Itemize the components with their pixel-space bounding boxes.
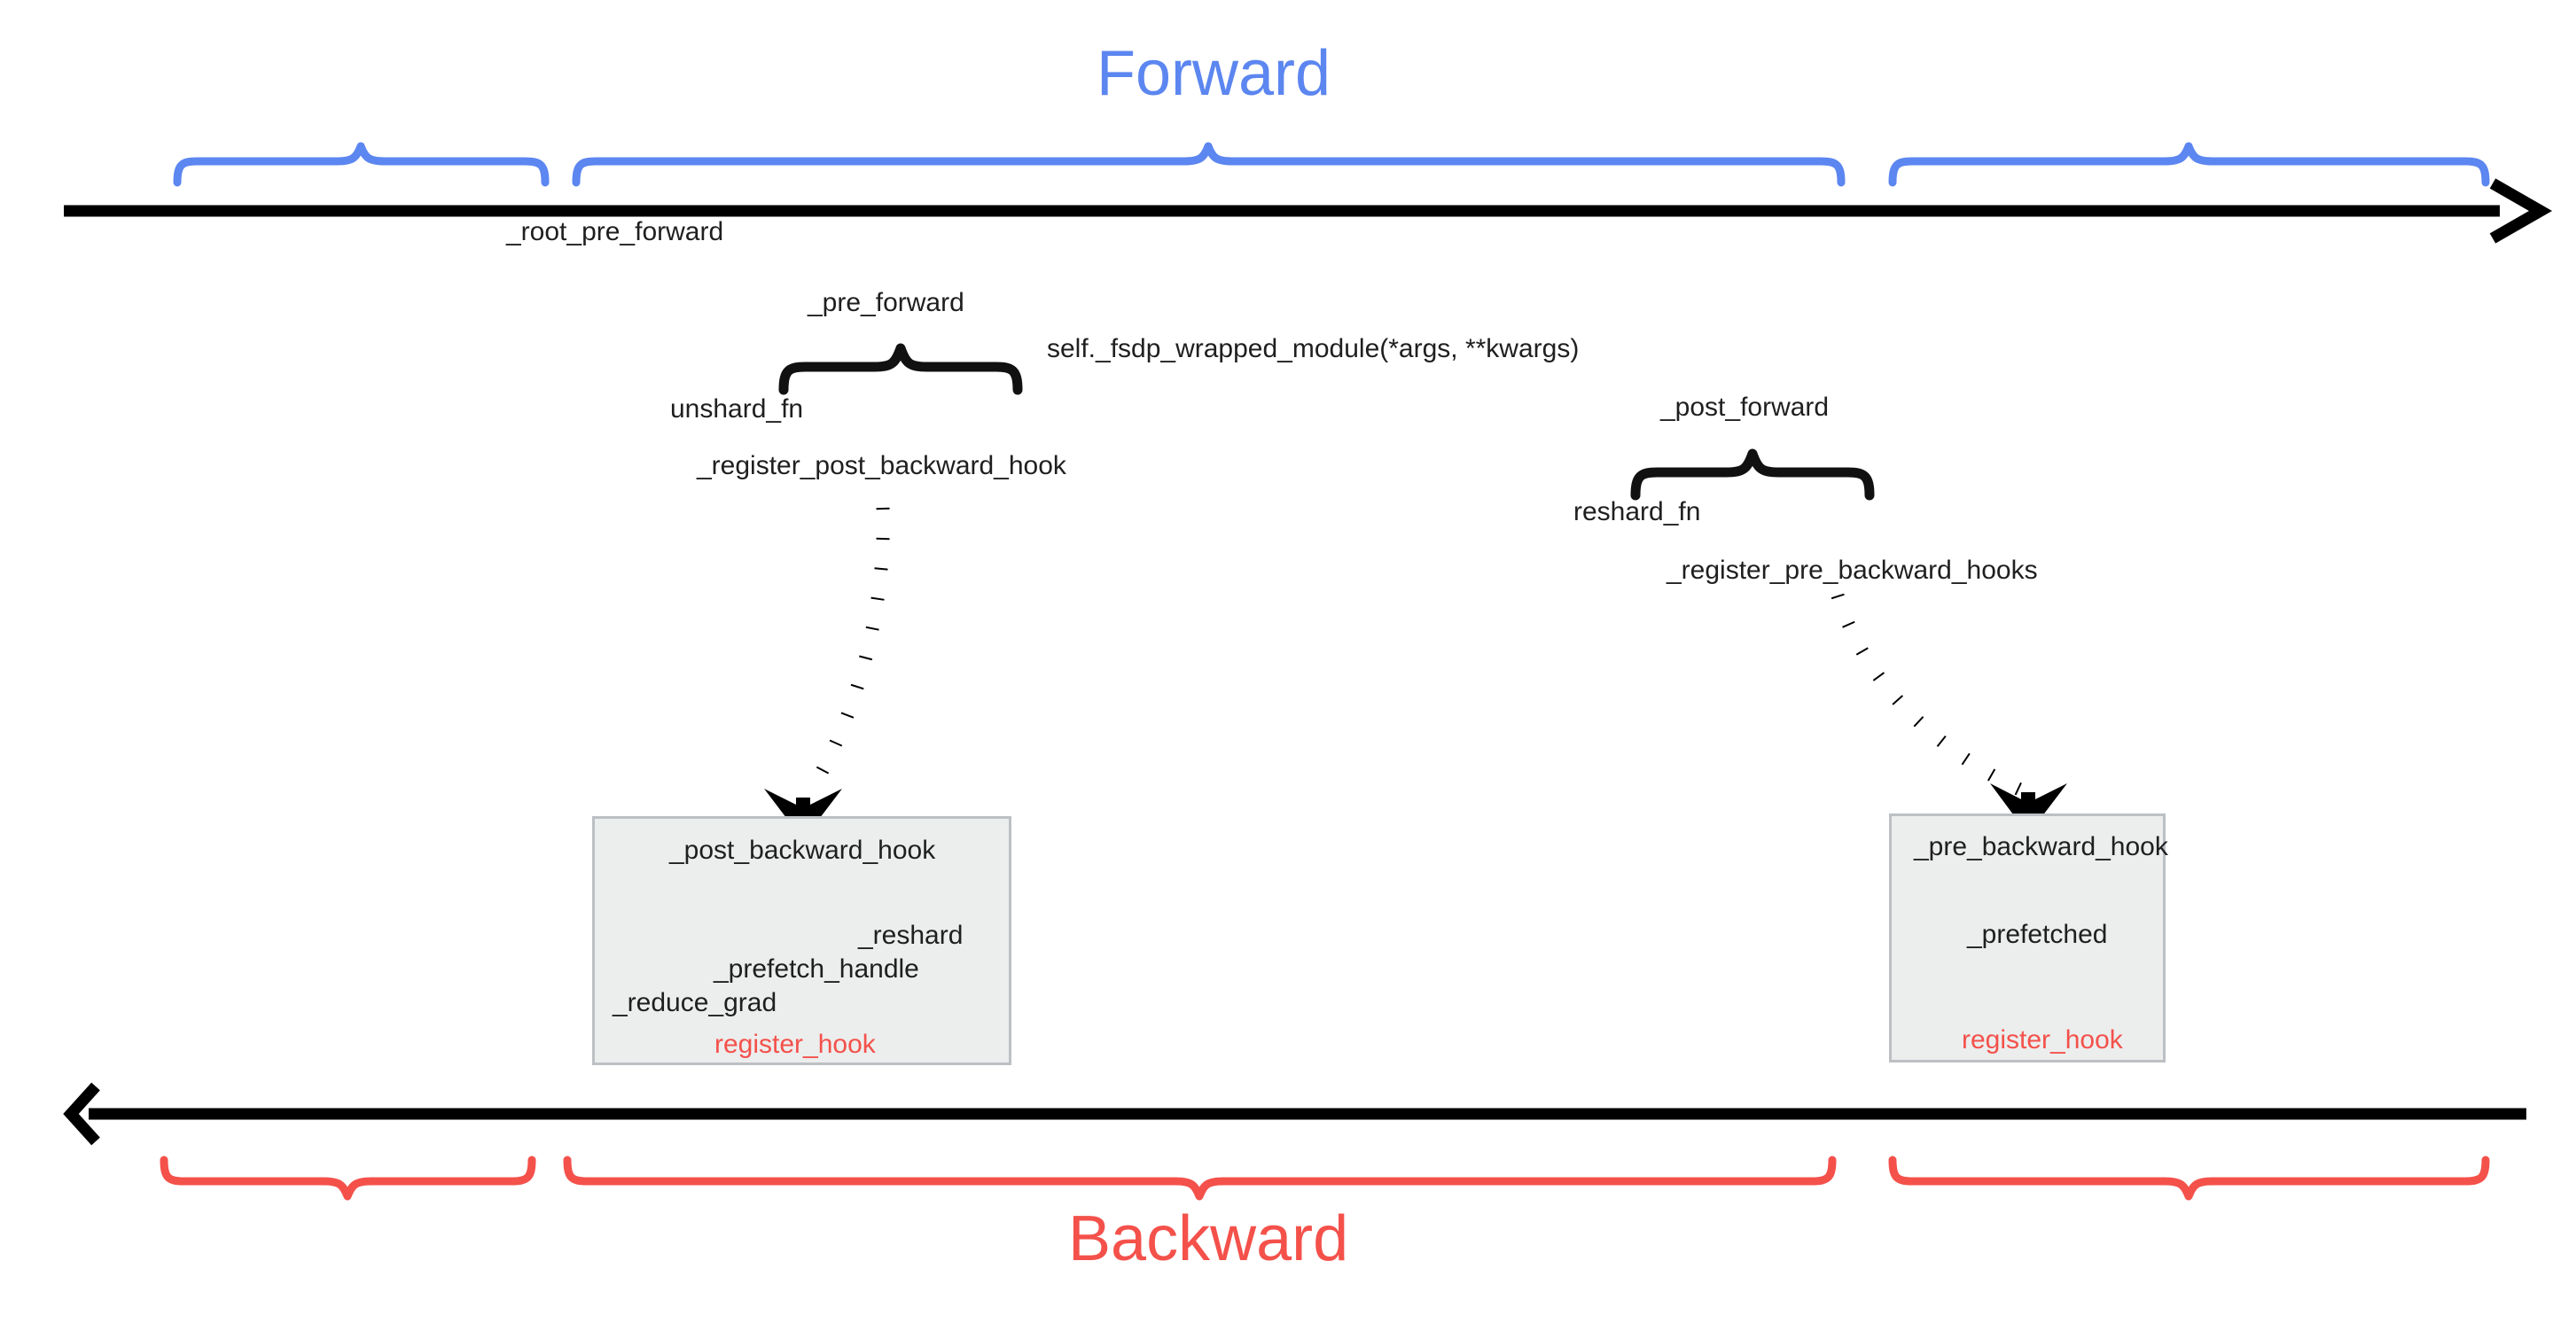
label-register-pre-backward-hooks: _register_pre_backward_hooks bbox=[1667, 557, 2038, 584]
pre-backward-hook-box: _pre_backward_hook _prefetched register_… bbox=[1889, 813, 2166, 1062]
post-backward-hook-register-hook: register_hook bbox=[714, 1031, 876, 1058]
page-title-backward: Backward bbox=[1068, 1207, 1348, 1271]
page-title-forward: Forward bbox=[1097, 42, 1331, 105]
fsdp-forward-backward-diagram: Forward Backward _root_pre_forward _pre_… bbox=[0, 0, 2576, 1331]
label-unshard-fn: unshard_fn bbox=[670, 396, 803, 423]
forward-timeline-arrow bbox=[64, 183, 2541, 238]
label-post-forward: _post_forward bbox=[1660, 394, 1829, 421]
pre-forward-brace bbox=[784, 348, 1018, 390]
post-backward-hook-reduce-grad: _reduce_grad bbox=[613, 990, 777, 1016]
forward-brace-module-region bbox=[576, 146, 1841, 183]
backward-timeline-arrow bbox=[71, 1086, 2526, 1141]
post-backward-hook-prefetch-handle: _prefetch_handle bbox=[714, 956, 919, 983]
register-pre-backward-hooks-arrow bbox=[1838, 595, 2067, 837]
register-post-backward-hook-arrow bbox=[764, 508, 883, 842]
post-backward-hook-title: _post_backward_hook bbox=[669, 837, 935, 864]
pre-backward-hook-prefetched: _prefetched bbox=[1967, 922, 2107, 948]
post-backward-hook-box: _post_backward_hook _reshard _prefetch_h… bbox=[592, 816, 1011, 1065]
forward-brace-root-pre-forward bbox=[177, 146, 545, 183]
pre-backward-hook-title: _pre_backward_hook bbox=[1914, 834, 2168, 860]
post-backward-hook-reshard: _reshard bbox=[858, 922, 963, 949]
label-register-post-backward-hook: _register_post_backward_hook bbox=[697, 453, 1066, 479]
post-forward-brace bbox=[1635, 454, 1870, 495]
label-reshard-fn: reshard_fn bbox=[1573, 499, 1700, 525]
label-fsdp-wrapped-module: self._fsdp_wrapped_module(*args, **kwarg… bbox=[1047, 336, 1579, 362]
forward-brace-post-forward-region bbox=[1893, 146, 2486, 183]
label-pre-forward: _pre_forward bbox=[808, 290, 964, 316]
pre-backward-hook-register-hook: register_hook bbox=[1962, 1027, 2123, 1054]
backward-brace-middle bbox=[567, 1160, 1832, 1196]
diagram-vector-layer bbox=[0, 0, 2576, 1331]
backward-brace-left bbox=[164, 1160, 532, 1196]
backward-brace-right bbox=[1893, 1160, 2486, 1196]
label-root-pre-forward: _root_pre_forward bbox=[506, 219, 723, 245]
